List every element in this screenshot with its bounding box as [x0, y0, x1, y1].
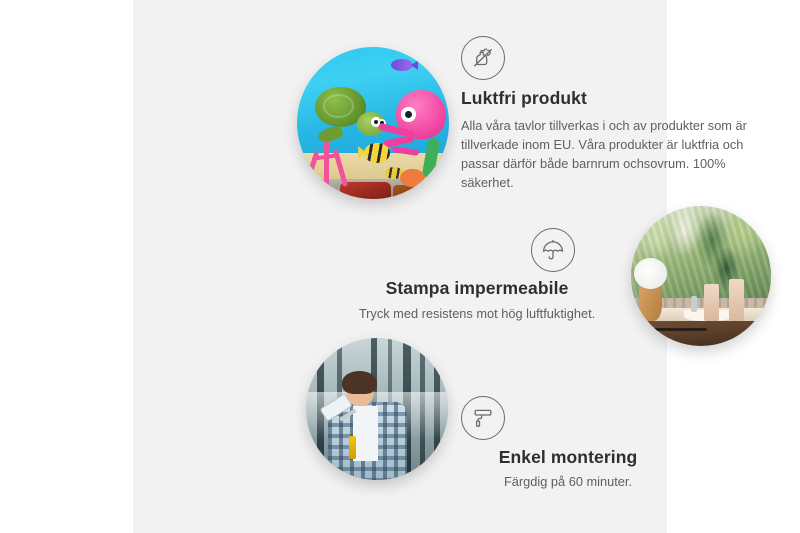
turtle-illustration [315, 87, 385, 139]
towel [729, 279, 744, 321]
image-painter-forest-scene [306, 338, 448, 480]
hand-tool [349, 436, 356, 459]
bathroom-illustration [631, 206, 771, 346]
feature-odour-free: Luktfri produkt Alla våra tavlor tillver… [461, 36, 761, 193]
paint-roller-icon [461, 396, 505, 440]
purple-fish [391, 59, 412, 71]
feature-description: Tryck med resistens mot hög luftfuktighe… [346, 304, 608, 323]
octopus-tentacle [383, 135, 414, 148]
octopus-tentacle [392, 147, 419, 157]
feature-description: Färgdig på 60 minuter. [453, 472, 683, 491]
feature-title: Luktfri produkt [461, 88, 761, 110]
feature-waterproof-print: Stampa impermeabile Tryck med resistens … [346, 228, 608, 323]
promo-banner: Luktfri produkt Alla våra tavlor tillver… [0, 0, 800, 533]
coral [306, 141, 352, 187]
icon-wrapper [346, 228, 608, 272]
feature-easy-installation: Enkel montering Färgdig på 60 minuter. [453, 396, 683, 491]
faucet [691, 296, 697, 313]
wooden-vanity [631, 321, 771, 346]
white-tshirt [353, 406, 378, 461]
painter-woman [326, 375, 408, 480]
octopus-eye [401, 107, 416, 122]
content-panel: Luktfri produkt Alla våra tavlor tillver… [133, 0, 667, 533]
starfish [400, 169, 424, 187]
white-flowers [634, 258, 668, 289]
drawer-handle [639, 328, 706, 331]
image-bathroom-scene [631, 206, 771, 346]
coral-branch [324, 141, 329, 187]
icon-wrapper [453, 396, 683, 440]
towel [704, 284, 719, 320]
image-underwater-scene [297, 47, 449, 199]
feature-title: Enkel montering [453, 447, 683, 469]
yellow-striped-fish [364, 143, 390, 163]
forest-mural [306, 338, 448, 480]
cabinet-handle [750, 325, 757, 341]
feature-description: Alla våra tavlor tillverkas i och av pro… [461, 116, 761, 193]
hair [342, 371, 377, 394]
no-fragrance-icon [461, 36, 505, 80]
underwater-illustration [297, 47, 449, 199]
umbrella-icon [531, 228, 575, 272]
feature-title: Stampa impermeabile [346, 278, 608, 300]
